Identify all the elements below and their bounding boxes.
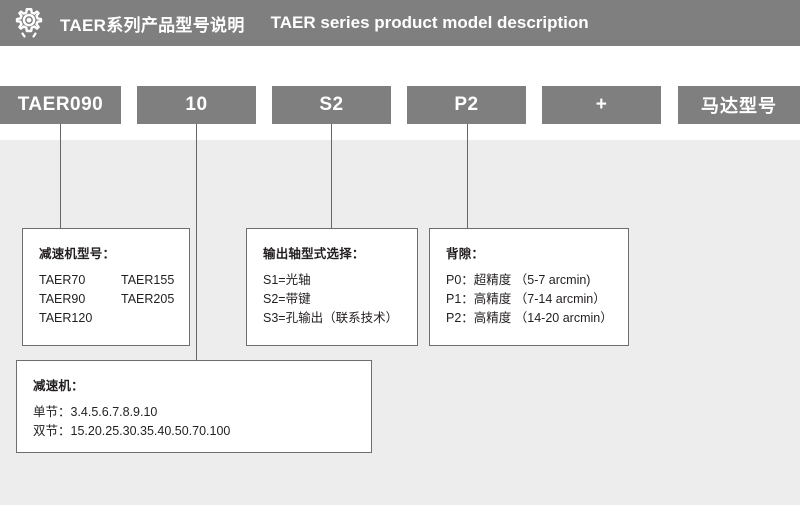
detail-row: TAER120 xyxy=(39,309,189,328)
detail-row: TAER90TAER205 xyxy=(39,290,189,309)
model-code-label: TAER090 xyxy=(18,94,104,116)
model-code-box-4[interactable]: + xyxy=(542,86,661,124)
connector-line-0 xyxy=(60,124,61,228)
connector-line-2 xyxy=(331,124,332,228)
detail-line: P2：高精度 （14-20 arcmin） xyxy=(446,309,628,328)
detail-row: TAER70TAER155 xyxy=(39,271,189,290)
detail-line: S1=光轴 xyxy=(263,271,417,290)
detail-cell-right: TAER205 xyxy=(121,290,189,309)
model-code-label: 10 xyxy=(185,94,207,116)
model-code-label: 马达型号 xyxy=(701,92,777,118)
detail-line: S2=带键 xyxy=(263,290,417,309)
model-code-box-2[interactable]: S2 xyxy=(272,86,391,124)
connector-line-3 xyxy=(467,124,468,228)
detail-cell-right: TAER155 xyxy=(121,271,189,290)
detail-box-title: 减速机： xyxy=(33,375,371,394)
model-code-box-5[interactable]: 马达型号 xyxy=(678,86,800,124)
detail-box-reduction-ratio: 减速机：单节：3.4.5.6.7.8.9.10双节：15.20.25.30.35… xyxy=(16,360,372,453)
detail-line: P0：超精度 （5-7 arcmin) xyxy=(446,271,628,290)
page-header: TAER系列产品型号说明 TAER series product model d… xyxy=(0,0,800,46)
model-code-label: S2 xyxy=(319,94,343,116)
detail-box-reducer-model: 减速机型号：TAER70TAER155TAER90TAER205TAER120 xyxy=(22,228,190,346)
detail-line: 单节：3.4.5.6.7.8.9.10 xyxy=(33,403,371,422)
detail-cell-left: TAER90 xyxy=(39,290,121,309)
detail-box-title: 背隙： xyxy=(446,243,628,262)
detail-cell-right xyxy=(121,309,189,328)
detail-line: P1：高精度 （7-14 arcmin） xyxy=(446,290,628,309)
detail-box-backlash: 背隙：P0：超精度 （5-7 arcmin)P1：高精度 （7-14 arcmi… xyxy=(429,228,629,346)
gear-icon xyxy=(6,0,52,46)
detail-box-title: 输出轴型式选择： xyxy=(263,243,417,262)
detail-box-output-shaft-type: 输出轴型式选择：S1=光轴S2=带键S3=孔输出（联系技术） xyxy=(246,228,418,346)
detail-line: S3=孔输出（联系技术） xyxy=(263,309,417,328)
connector-line-1 xyxy=(196,124,197,360)
model-code-label: + xyxy=(596,94,608,116)
detail-cell-left: TAER70 xyxy=(39,271,121,290)
header-title-en: TAER series product model description xyxy=(271,13,589,33)
model-code-box-0[interactable]: TAER090 xyxy=(0,86,121,124)
model-code-label: P2 xyxy=(454,94,478,116)
detail-cell-left: TAER120 xyxy=(39,309,121,328)
detail-line: 双节：15.20.25.30.35.40.50.70.100 xyxy=(33,422,371,441)
detail-box-title: 减速机型号： xyxy=(39,243,189,262)
header-title-cn: TAER系列产品型号说明 xyxy=(60,11,245,36)
model-code-box-1[interactable]: 10 xyxy=(137,86,256,124)
model-code-box-3[interactable]: P2 xyxy=(407,86,526,124)
